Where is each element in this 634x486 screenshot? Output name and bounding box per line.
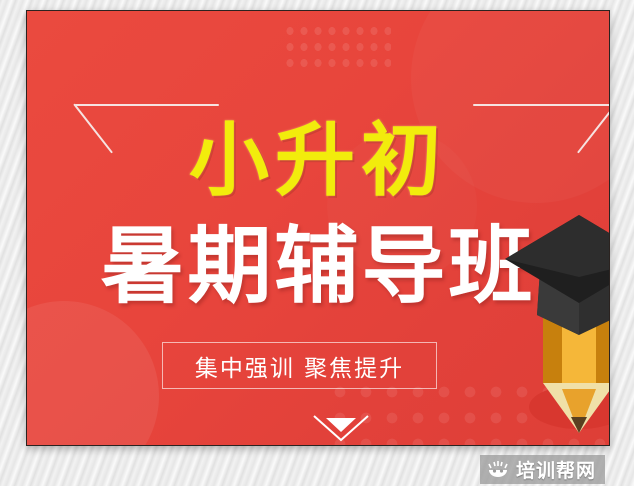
subtitle-box: 集中强训 聚焦提升 — [162, 342, 437, 389]
circle-bottom-left — [27, 301, 159, 445]
poster-frame: 小升初 暑期辅导班 集中强训 聚焦提升 — [26, 10, 610, 446]
watermark: 培训帮网 — [480, 455, 605, 484]
screenshot-canvas: 小升初 暑期辅导班 集中强训 聚焦提升 — [0, 0, 634, 486]
graduation-cap — [505, 215, 609, 335]
subtitle-text: 集中强训 聚焦提升 — [195, 349, 404, 383]
watermark-text: 培训帮网 — [516, 456, 596, 483]
bracket-horizontal — [473, 104, 609, 106]
headline-primary: 小升初 — [27, 121, 609, 201]
sun-face-icon — [487, 460, 509, 480]
bracket-horizontal — [75, 104, 219, 106]
poster-background: 小升初 暑期辅导班 集中强训 聚焦提升 — [27, 11, 609, 445]
dot-grid-top — [283, 23, 391, 75]
pencil-with-graduation-cap-illustration — [503, 207, 609, 433]
chevron-down-icon — [312, 413, 370, 443]
